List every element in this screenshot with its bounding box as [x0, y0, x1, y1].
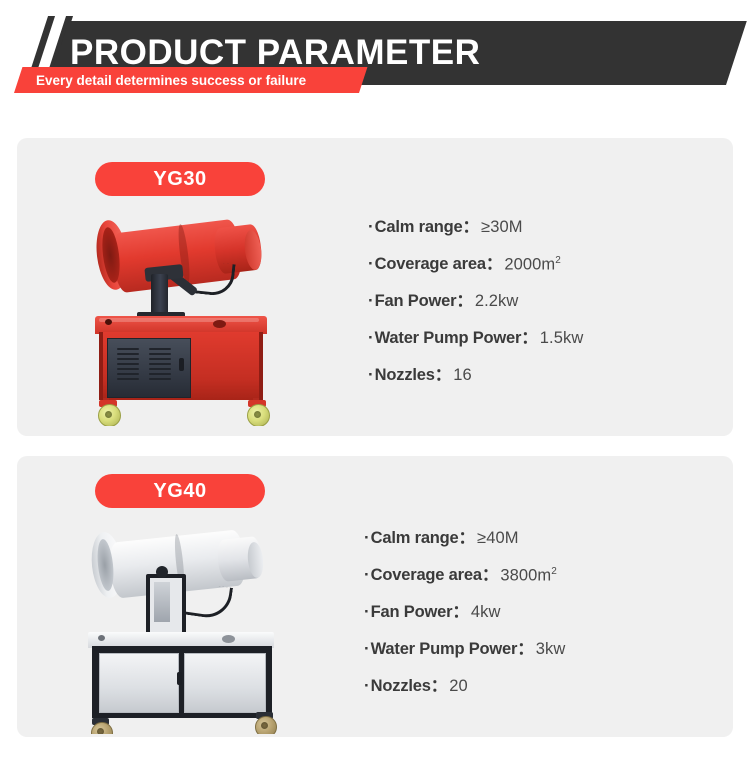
caster-hub — [254, 411, 261, 418]
spec-label: Fan Power — [371, 603, 453, 622]
bullet-icon: · — [368, 218, 374, 235]
vent-group — [149, 348, 171, 380]
spec-label: Coverage area — [371, 566, 482, 585]
vent-slot — [117, 348, 139, 350]
vent-slot — [149, 353, 171, 355]
spec-row: · Calm range ： ≥40M — [364, 524, 565, 561]
cabinet-knob — [98, 635, 105, 641]
spec-row: · Fan Power ： 2.2kw — [368, 287, 583, 324]
bullet-icon: · — [368, 366, 374, 383]
spec-value: 3800m2 — [500, 566, 557, 586]
door-handle — [177, 672, 182, 685]
spec-row: · Coverage area ： 2000m2 — [368, 250, 583, 287]
support-frame-inner — [154, 582, 170, 622]
vent-slot — [149, 363, 171, 365]
spec-row: · Coverage area ： 3800m2 — [364, 561, 565, 598]
vent-slot — [117, 363, 139, 365]
vent-slot — [149, 378, 171, 380]
spec-label: Nozzles — [371, 677, 431, 696]
cabinet-edge-right — [259, 332, 263, 400]
spec-colon: ： — [482, 561, 499, 585]
spec-value: 4kw — [471, 603, 501, 622]
cabinet-top-highlight — [99, 318, 259, 322]
bullet-icon: · — [368, 292, 374, 309]
vent-slot — [117, 358, 139, 360]
cabinet-door — [99, 653, 179, 713]
spec-value-superscript: 2 — [551, 566, 557, 577]
spec-value: 3kw — [536, 640, 566, 659]
vent-slot — [149, 373, 171, 375]
cabinet-port — [213, 320, 226, 328]
vent-slot — [117, 373, 139, 375]
spec-value: 20 — [449, 677, 468, 696]
page-subtitle: Every detail determines success or failu… — [36, 67, 366, 93]
spec-colon: ： — [456, 287, 473, 311]
spec-value: 2000m2 — [504, 255, 561, 275]
bullet-icon: · — [368, 255, 374, 272]
caster-hub — [97, 728, 104, 734]
pivot-motor — [156, 566, 168, 578]
page-header: PRODUCT PARAMETER Every detail determine… — [0, 0, 750, 108]
spec-row: · Fan Power ： 4kw — [364, 598, 565, 635]
spec-label: Nozzles — [375, 366, 435, 385]
caster-hub — [105, 411, 112, 418]
product-badge-yg30[interactable]: YG30 — [95, 162, 265, 196]
spec-colon: ： — [521, 324, 538, 348]
spec-label: Fan Power — [375, 292, 457, 311]
product-badge-yg40[interactable]: YG40 — [95, 474, 265, 508]
vent-slot — [117, 353, 139, 355]
bullet-icon: · — [368, 329, 374, 346]
spec-value-superscript: 2 — [555, 255, 561, 266]
cabinet-edge-left — [99, 332, 103, 400]
cabinet-door — [184, 653, 266, 713]
spec-colon: ： — [517, 635, 534, 659]
spec-row: · Calm range ： ≥30M — [368, 213, 583, 250]
spec-value-text: 3800m — [500, 566, 551, 584]
spec-colon: ： — [463, 213, 480, 237]
product-image-yg30 — [85, 208, 280, 426]
spec-label: Coverage area — [375, 255, 486, 274]
spec-colon: ： — [486, 250, 503, 274]
spec-label: Calm range — [371, 529, 459, 548]
door-handle — [179, 358, 184, 371]
spec-list-yg30: · Calm range ： ≥30M · Coverage area ： 20… — [368, 213, 583, 398]
spec-row: · Water Pump Power ： 1.5kw — [368, 324, 583, 361]
spec-row: · Water Pump Power ： 3kw — [364, 635, 565, 672]
spec-value-text: 2000m — [504, 255, 555, 273]
spec-value: 16 — [453, 366, 472, 385]
spec-value: 1.5kw — [540, 329, 584, 348]
spec-colon: ： — [459, 524, 476, 548]
product-image-yg40 — [80, 522, 285, 734]
bullet-icon: · — [364, 603, 370, 620]
vent-slot — [149, 348, 171, 350]
spec-row: · Nozzles ： 16 — [368, 361, 583, 398]
bullet-icon: · — [364, 640, 370, 657]
cabinet-port — [222, 635, 235, 643]
spec-colon: ： — [452, 598, 469, 622]
spec-label: Water Pump Power — [371, 640, 518, 659]
bullet-icon: · — [364, 677, 370, 694]
spec-colon: ： — [431, 672, 448, 696]
spec-row: · Nozzles ： 20 — [364, 672, 565, 709]
spec-colon: ： — [435, 361, 452, 385]
spec-value: ≥30M — [481, 218, 523, 237]
vent-group — [117, 348, 139, 380]
spec-value: 2.2kw — [475, 292, 519, 311]
spec-value: ≥40M — [477, 529, 519, 548]
caster-hub — [261, 722, 268, 729]
vent-slot — [149, 368, 171, 370]
vent-slot — [149, 358, 171, 360]
vent-slot — [117, 378, 139, 380]
spec-label: Water Pump Power — [375, 329, 522, 348]
bullet-icon: · — [364, 529, 370, 546]
vent-slot — [117, 368, 139, 370]
bullet-icon: · — [364, 566, 370, 583]
spec-label: Calm range — [375, 218, 463, 237]
spec-list-yg40: · Calm range ： ≥40M · Coverage area ： 38… — [364, 524, 565, 709]
cabinet-knob — [105, 319, 112, 325]
